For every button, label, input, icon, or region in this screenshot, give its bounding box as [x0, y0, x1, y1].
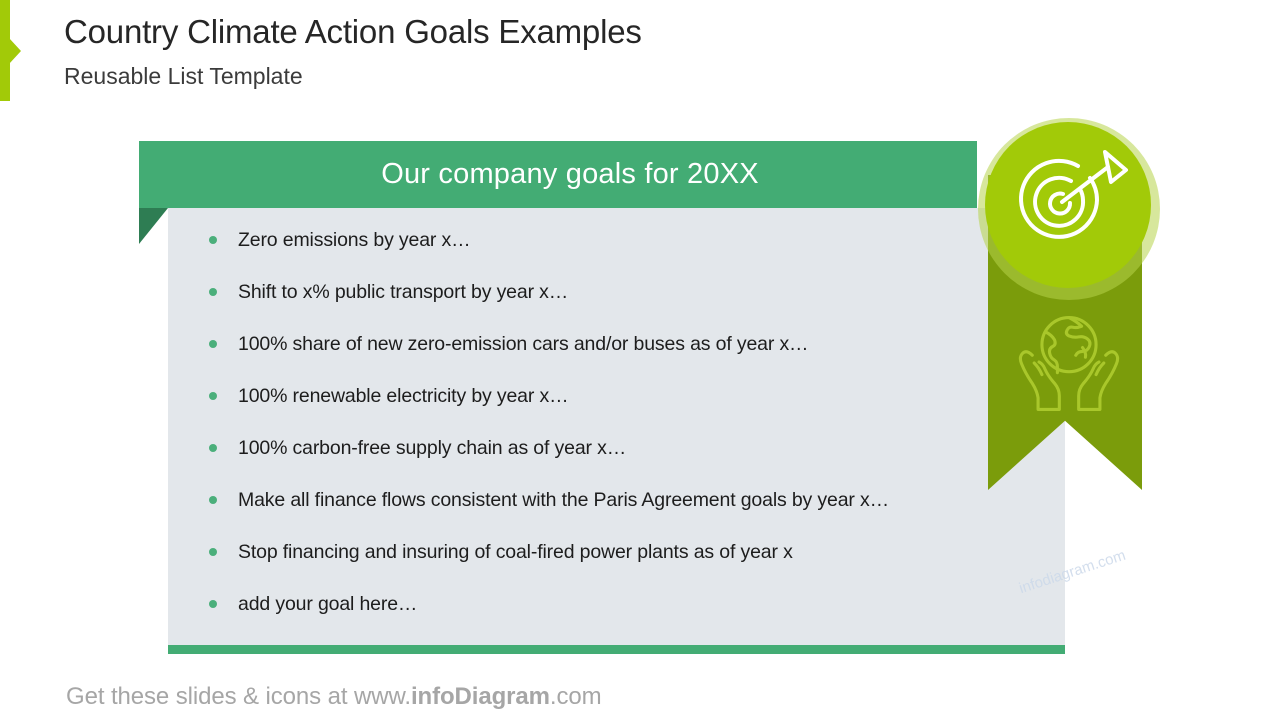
bullet-dot-icon [209, 548, 217, 556]
footer-brand: infoDiagram [411, 683, 550, 710]
bullet-dot-icon [209, 444, 217, 452]
goals-list: Zero emissions by year x… Shift to x% pu… [205, 224, 995, 640]
list-item: 100% carbon-free supply chain as of year… [205, 432, 995, 464]
bullet-dot-icon [209, 236, 217, 244]
panel-bottom-rule [168, 645, 1065, 654]
list-item: Zero emissions by year x… [205, 224, 995, 256]
goals-header-title: Our company goals for 20XX [381, 158, 759, 191]
bullet-dot-icon [209, 496, 217, 504]
footer-suffix: .com [550, 683, 602, 710]
bullet-dot-icon [209, 600, 217, 608]
list-item-label: Shift to x% public transport by year x… [238, 281, 568, 303]
list-item-label: add your goal here… [238, 593, 417, 615]
list-item: Shift to x% public transport by year x… [205, 276, 995, 308]
footer-prefix: Get these slides & icons at www. [66, 683, 411, 710]
list-item-label: Make all finance flows consistent with t… [238, 489, 889, 511]
list-item-label: 100% carbon-free supply chain as of year… [238, 437, 626, 459]
list-item-label: 100% share of new zero-emission cars and… [238, 333, 808, 355]
banner-fold-shape [139, 208, 168, 244]
bullet-dot-icon [209, 392, 217, 400]
target-dart-icon [1004, 140, 1130, 260]
slide-canvas: Country Climate Action Goals Examples Re… [0, 0, 1280, 720]
bullet-dot-icon [209, 288, 217, 296]
list-item: Make all finance flows consistent with t… [205, 484, 995, 516]
left-accent-arrow-icon [9, 38, 21, 64]
list-item-label: Stop financing and insuring of coal-fire… [238, 541, 793, 563]
list-item-label: Zero emissions by year x… [238, 229, 471, 251]
hands-holding-earth-icon [1011, 304, 1127, 422]
list-item-label: 100% renewable electricity by year x… [238, 385, 568, 407]
goals-header-banner: Our company goals for 20XX [139, 141, 977, 208]
page-title: Country Climate Action Goals Examples [64, 11, 964, 53]
list-item: add your goal here… [205, 588, 995, 620]
title-block: Country Climate Action Goals Examples Re… [64, 11, 964, 92]
list-item: Stop financing and insuring of coal-fire… [205, 536, 995, 568]
list-item: 100% renewable electricity by year x… [205, 380, 995, 412]
bullet-dot-icon [209, 340, 217, 348]
footer-credit: Get these slides & icons at www.infoDiag… [66, 683, 601, 711]
list-item: 100% share of new zero-emission cars and… [205, 328, 995, 360]
page-subtitle: Reusable List Template [64, 60, 964, 92]
